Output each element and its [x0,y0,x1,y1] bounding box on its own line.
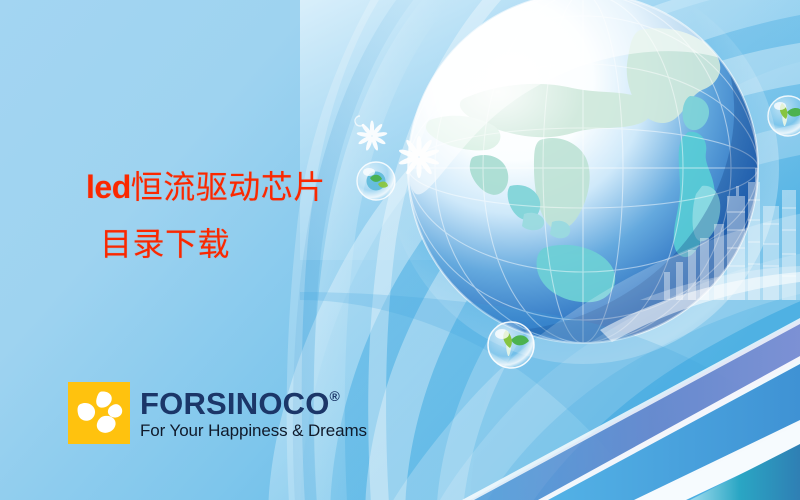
bubble-edge-right [768,96,800,136]
bubble-globe-chip [357,162,395,200]
bubble-green-sprout [488,322,534,368]
headline-line-1-latin: led [86,169,131,205]
company-logo: FORSINOCO® For Your Happiness & Dreams [68,382,367,444]
logo-company-name-text: FORSINOCO [140,388,330,419]
logo-wordmark: FORSINOCO® For Your Happiness & Dreams [140,388,367,439]
registered-trademark-icon: ® [330,389,341,403]
four-petal-pinwheel-icon [68,382,130,444]
logo-mark-tile [68,382,130,444]
slide-headline: led恒流驱动芯片 目录下载 [86,168,326,264]
headline-line-1: led恒流驱动芯片 [86,168,326,207]
slide-canvas: led恒流驱动芯片 目录下载 FORSINOCO® For Your Happi… [0,0,800,500]
headline-line-2: 目录下载 [86,225,326,264]
headline-line-1-cjk: 恒流驱动芯片 [131,169,326,205]
logo-tagline: For Your Happiness & Dreams [140,422,367,439]
logo-company-name: FORSINOCO® [140,388,340,419]
